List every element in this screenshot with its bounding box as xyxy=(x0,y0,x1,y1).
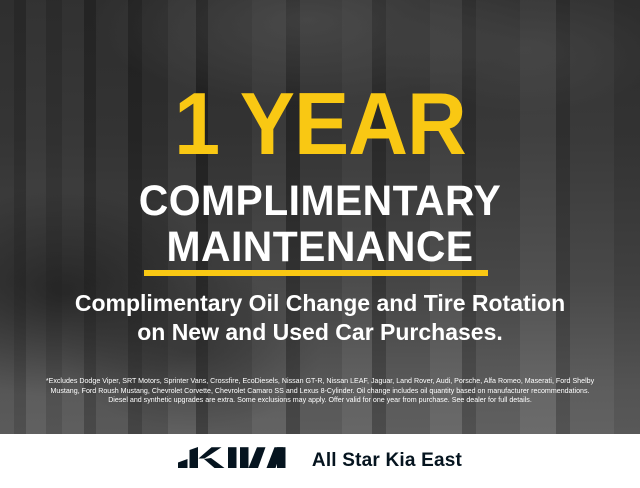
subheadline: Complimentary Oil Change and Tire Rotati… xyxy=(22,289,618,347)
banner-footer: All Star Kia East xyxy=(0,434,640,488)
banner-content: 1 YEAR COMPLIMENTARY MAINTENANCE Complim… xyxy=(0,0,640,434)
headline-maintenance: MAINTENANCE xyxy=(16,226,624,269)
yellow-divider-bar xyxy=(144,270,488,276)
disclaimer-line-2: Mustang, Ford Roush Mustang, Chevrolet C… xyxy=(12,387,628,397)
disclaimer-line-3: Diesel and synthetic upgrades are extra.… xyxy=(12,396,628,406)
promo-banner: 1 YEAR COMPLIMENTARY MAINTENANCE Complim… xyxy=(0,0,640,488)
subheadline-line-2: on New and Used Car Purchases. xyxy=(22,318,618,347)
kia-logo xyxy=(178,446,286,477)
disclaimer-text: *Excludes Dodge Viper, SRT Motors, Sprin… xyxy=(12,377,628,406)
subheadline-line-1: Complimentary Oil Change and Tire Rotati… xyxy=(22,289,618,318)
headline-complimentary: COMPLIMENTARY xyxy=(16,180,624,223)
dealer-name: All Star Kia East xyxy=(312,450,462,472)
headline-year: 1 YEAR xyxy=(19,80,621,168)
disclaimer-line-1: *Excludes Dodge Viper, SRT Motors, Sprin… xyxy=(12,377,628,387)
